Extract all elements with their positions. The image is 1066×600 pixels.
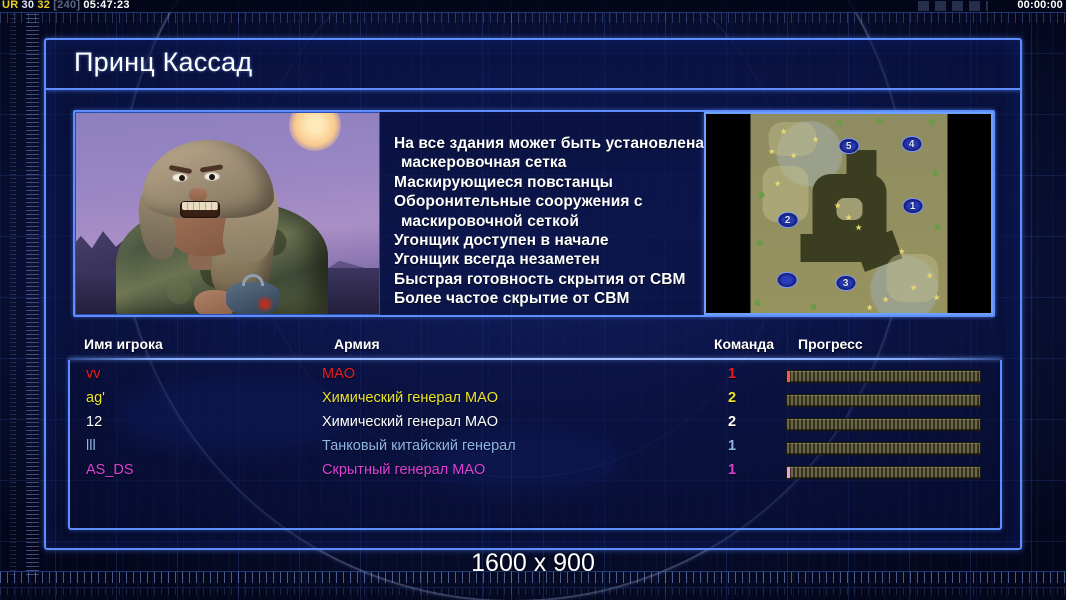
column-header-player: Имя игрока [84,336,163,352]
player-army: Химический генерал MAO [322,414,498,430]
player-name: vv [86,366,101,382]
player-name: ag' [86,390,105,406]
resolution-label: 1600 x 900 [0,549,1066,578]
player-list-panel: vv MAO 1 ag' Химический генерал MAO 2 12… [68,360,1002,530]
table-row[interactable]: vv MAO 1 [70,366,1000,391]
player-team: 2 [709,414,755,430]
ability-line: маскировочной сеткой [394,212,704,231]
player-progress-bar [786,370,981,383]
portrait-pupil-left [179,175,185,181]
progress-tick [787,467,790,478]
player-progress-bar [786,466,981,479]
player-army: MAO [322,366,355,382]
ability-line: Оборонительные сооружения с [394,192,704,211]
map-terrain-light [768,122,816,156]
fps-value: 30 [22,0,35,11]
table-row[interactable]: 12 Химический генерал MAO 2 [70,414,1000,439]
map-start-position[interactable]: 3 [835,275,856,291]
player-team: 2 [709,390,755,406]
clock: 00:00:00 [1017,0,1063,11]
column-header-progress: Прогресс [798,336,863,352]
player-progress-bar [786,442,981,455]
ruler-horizontal-top [0,12,1066,23]
table-row[interactable]: ag' Химический генерал MAO 2 [70,390,1000,415]
map-start-position[interactable]: 2 [777,212,798,228]
map-tree-icon [928,119,934,125]
map-tree-icon [836,120,842,126]
top-status-bar: UR3032[240]05:47:23 00:00:00 [0,0,1066,13]
player-army: Скрытный генерал MAO [322,462,485,478]
ability-line: Угонщик доступен в начале [394,231,704,250]
map-start-position[interactable]: 1 [902,198,923,214]
ability-line: На все здания может быть установлена [394,134,704,153]
map-tree-icon [756,240,762,246]
fps-cap-value: [240] [53,0,80,11]
map-tree-icon [758,192,764,198]
map-tree-icon [934,224,940,230]
fps-counter: UR3032[240]05:47:23 [2,0,133,11]
ruler-horizontal-bottom-secondary [0,588,1066,595]
map-start-position[interactable] [776,272,797,288]
status-blocks [918,1,988,11]
player-team: 1 [709,438,755,454]
table-row[interactable]: AS_DS Скрытный генерал MAO 1 [70,462,1000,487]
column-header-team: Команда [714,336,774,352]
player-progress-bar [786,394,981,407]
general-portrait [75,112,380,315]
table-row[interactable]: lll Танковый китайский генерал 1 [70,438,1000,463]
map-resource-icon [882,296,889,303]
progress-tick [787,371,790,382]
map-resource-icon [866,304,873,311]
ability-line: Угонщик всегда незаметен [394,250,704,269]
player-army: Танковый китайский генерал [322,438,516,454]
map-start-position[interactable]: 5 [838,138,859,154]
player-army: Химический генерал MAO [322,390,498,406]
ruler-vertical-left [26,14,39,578]
player-team: 1 [709,366,755,382]
session-time: 05:47:23 [83,0,129,11]
map-preview-image: 5 4 1 2 3 [750,114,947,313]
player-table-header: Имя игрока Армия Команда Прогресс [46,336,1020,358]
map-start-position[interactable]: 4 [901,136,922,152]
general-info-panel: На все здания может быть установлена мас… [73,110,995,317]
player-name: lll [86,438,96,454]
general-info-window: Принц Кассад [44,38,1022,550]
page-title: Принц Кассад [74,47,252,78]
ability-line: Быстрая готовность скрытия от СВМ [394,270,704,289]
window-title-bar: Принц Кассад [46,40,1020,90]
map-terrain-dark [846,150,876,190]
portrait-pupil-right [209,174,215,180]
player-name: 12 [86,414,102,430]
ability-line: маскеровочная сетка [394,153,704,172]
map-preview[interactable]: 5 4 1 2 3 [704,112,993,315]
map-terrain-light [886,254,938,302]
map-tree-icon [876,118,882,124]
ruler-vertical-left-secondary [10,14,16,578]
player-team: 1 [709,462,755,478]
column-header-army: Армия [334,336,380,352]
portrait-teeth [182,202,218,210]
player-progress-bar [786,418,981,431]
fps-alt-value: 32 [37,0,50,11]
portrait-teapot-glow [256,296,274,312]
ability-line: Более частое скрытие от СВМ [394,289,704,308]
ability-line: Маскирующиеся повстанцы [394,173,704,192]
map-tree-icon [932,170,938,176]
fps-label: UR [2,0,19,11]
map-tree-icon [754,300,760,306]
edge-line-bottom-2 [0,587,1066,588]
map-tree-icon [810,304,816,310]
general-ability-list: На все здания может быть установлена мас… [380,112,704,315]
portrait-nose [189,188,207,202]
player-name: AS_DS [86,462,134,478]
